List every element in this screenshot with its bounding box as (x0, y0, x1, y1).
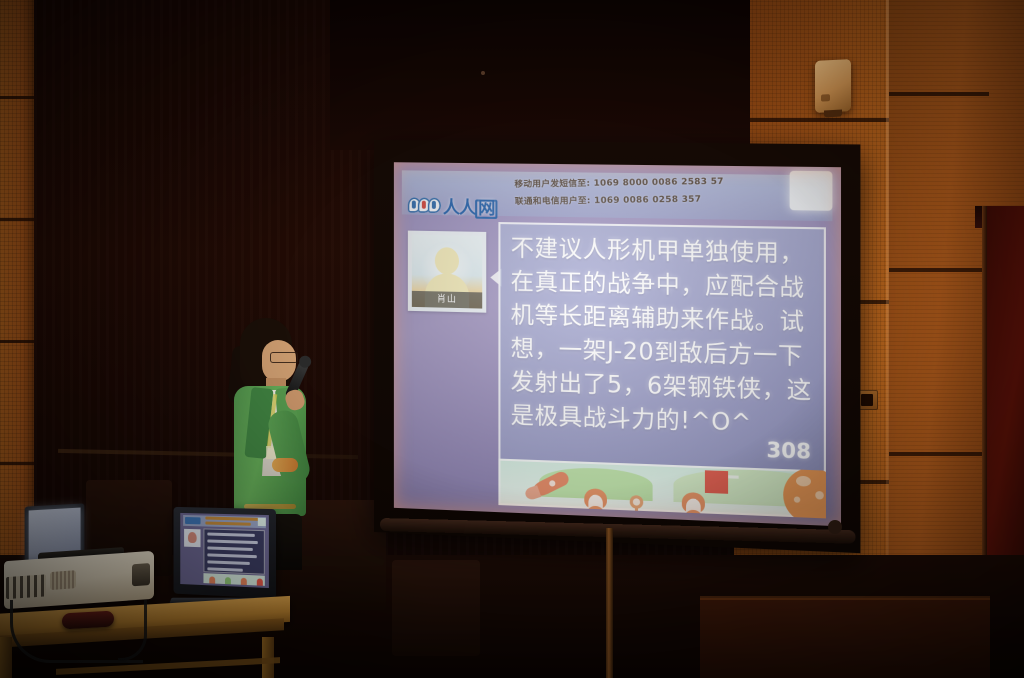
avatar-head-icon (435, 247, 459, 275)
projector-ports (6, 574, 46, 599)
roller-end-cap (828, 520, 842, 534)
wall-speaker-icon (815, 59, 851, 113)
laptop-lid (174, 507, 276, 599)
sleeve-cuff (272, 458, 298, 472)
wall-seam (889, 268, 989, 272)
tripod-mast (606, 528, 613, 678)
qr-code-placeholder (790, 171, 833, 211)
mini-avatar (184, 529, 200, 547)
wall-seam (0, 340, 38, 343)
screen-surface: 人人网 移动用户发短信至: 1069 8000 0086 2583 57 联通和… (394, 162, 841, 526)
status-count: 308 (766, 437, 811, 463)
chair (392, 560, 480, 656)
laptop-screen (180, 513, 269, 588)
sms-header-block: 移动用户发短信至: 1069 8000 0086 2583 57 联通和电信用户… (514, 173, 818, 212)
projected-slide: 人人网 移动用户发短信至: 1069 8000 0086 2583 57 联通和… (394, 162, 841, 526)
person-icon (584, 488, 607, 509)
flag-icon (705, 470, 728, 494)
projection-screen-assembly: 人人网 移动用户发短信至: 1069 8000 0086 2583 57 联通和… (374, 140, 844, 540)
renren-bubbles-icon (408, 197, 438, 213)
wall-seam (889, 452, 989, 456)
photo-scene: 人人网 移动用户发短信至: 1069 8000 0086 2583 57 联通和… (0, 0, 1024, 678)
sms-line-unicom: 联通和电信用户至: 1069 0086 0258 357 (515, 191, 818, 207)
wall-seam (0, 462, 38, 465)
mini-illustration (203, 573, 264, 586)
dark-ceiling (330, 0, 750, 150)
mini-status-bubble (203, 528, 264, 574)
mini-slide (180, 513, 269, 588)
stage-front-face (700, 598, 990, 678)
ceiling-light-dot (481, 71, 485, 75)
screen-frame: 人人网 移动用户发短信至: 1069 8000 0086 2583 57 联通和… (374, 140, 860, 553)
projector-vent (50, 570, 76, 590)
wall-seam (0, 96, 38, 99)
wall-seam (889, 92, 989, 96)
table-leg (0, 637, 12, 678)
glasses-icon (270, 352, 298, 363)
projector-lens-icon (132, 563, 150, 586)
tree-icon (630, 495, 644, 509)
avatar-name-label: 肖山 (412, 291, 482, 309)
stage-edge (700, 596, 990, 600)
bubble-icon (428, 198, 441, 213)
renren-wordmark: 人人网 (443, 193, 498, 219)
person-icon (682, 492, 705, 513)
wall-seam (0, 218, 38, 221)
speaker-bracket (824, 110, 842, 118)
mini-qr (258, 518, 266, 526)
renren-logo: 人人网 (408, 192, 498, 219)
avatar: 肖山 (412, 235, 482, 309)
mini-renren-logo (185, 517, 200, 524)
avatar-card[interactable]: 肖山 (408, 231, 486, 313)
